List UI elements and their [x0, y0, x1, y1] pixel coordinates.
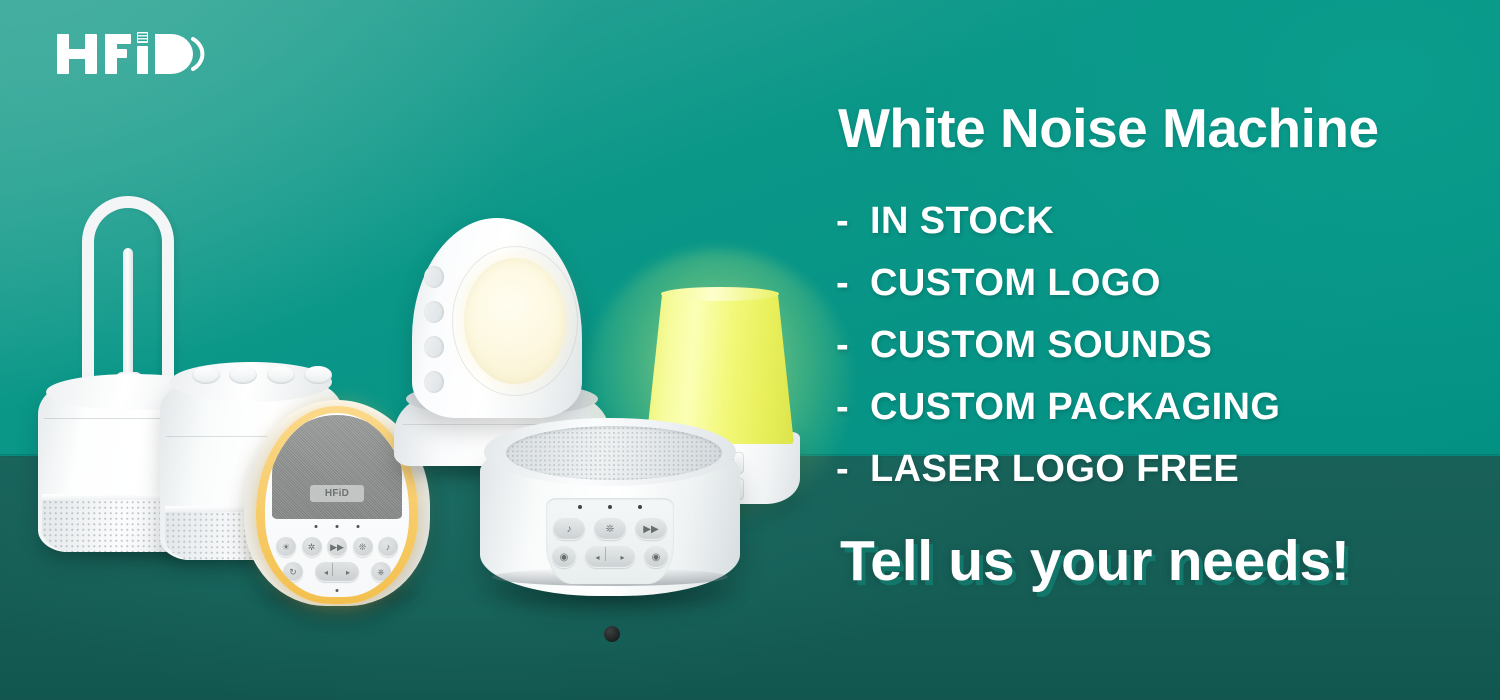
product-drum-sound-machine: ♪ ❊ ▶▶ ◉ ◂ ▸ ◉: [480, 418, 740, 610]
bullet-dash: -: [836, 262, 870, 305]
mode-icon: ◉: [644, 546, 668, 568]
feature-list: - IN STOCK - CUSTOM LOGO - CUSTOM SOUNDS…: [836, 200, 1476, 510]
side-button: [424, 371, 444, 393]
volume-rocker: ◂ ▸: [315, 562, 359, 582]
page-title: White Noise Machine: [838, 96, 1379, 160]
volume-rocker: ◂ ▸: [585, 546, 635, 568]
keypad-row-1: ♪ ❊ ▶▶: [553, 518, 667, 540]
side-button: [424, 301, 444, 323]
bullet-label: CUSTOM LOGO: [870, 262, 1161, 305]
top-button: [267, 366, 295, 384]
promo-banner: HFiD ☀ ✲ ▶▶ ❊ ♪ ↻ ◂ ▸ ⎈: [0, 0, 1500, 700]
fan-icon: ❊: [594, 518, 626, 540]
volume-up-icon: ▸: [620, 553, 624, 562]
side-button: [424, 266, 444, 288]
hfid-badge: HFiD: [310, 485, 364, 502]
led-indicators: [315, 525, 360, 528]
led-dot: [315, 525, 318, 528]
music-note-icon: ♪: [553, 518, 585, 540]
bullet-label: CUSTOM PACKAGING: [870, 386, 1280, 429]
led-dot: [336, 525, 339, 528]
bullet-label: CUSTOM SOUNDS: [870, 324, 1212, 367]
bullet-dash: -: [836, 448, 870, 491]
fast-forward-icon: ▶▶: [327, 537, 347, 557]
led-dot: [638, 505, 642, 509]
ir-sensor: [604, 626, 620, 642]
power-icon: ⎈: [371, 562, 391, 582]
volume-down-icon: ◂: [324, 568, 328, 577]
lamp-shade-top: [661, 287, 779, 301]
egg-face: HFiD ☀ ✲ ▶▶ ❊ ♪ ↻ ◂ ▸ ⎈: [265, 413, 409, 597]
side-button-column: [424, 266, 444, 393]
music-note-icon: ♪: [378, 537, 398, 557]
fast-forward-icon: ▶▶: [635, 518, 667, 540]
list-item: - LASER LOGO FREE: [836, 448, 1476, 510]
volume-up-icon: ▸: [346, 568, 350, 577]
list-item: - IN STOCK: [836, 200, 1476, 262]
dome-body: [412, 218, 582, 418]
bullet-dash: -: [836, 324, 870, 367]
side-button: [424, 336, 444, 358]
led-dot: [357, 525, 360, 528]
timer-icon: ↻: [283, 562, 303, 582]
led-indicators: [578, 505, 642, 509]
bullet-dash: -: [836, 200, 870, 243]
bullet-label: IN STOCK: [870, 200, 1054, 243]
led-dot: [608, 505, 612, 509]
led-dot: [578, 505, 582, 509]
volume-down-icon: ◂: [595, 553, 599, 562]
hfid-wordmark-icon: [55, 26, 235, 82]
bottom-sensor-dot: [336, 589, 339, 592]
top-button-row: [192, 366, 332, 388]
mode-icon: ◉: [552, 546, 576, 568]
list-item: - CUSTOM PACKAGING: [836, 386, 1476, 448]
brightness-icon: ✲: [302, 537, 322, 557]
top-button: [192, 366, 220, 384]
night-light-lens: [464, 258, 566, 384]
top-button: [304, 366, 332, 384]
list-item: - CUSTOM LOGO: [836, 262, 1476, 324]
keypad-row-1: ☀ ✲ ▶▶ ❊ ♪: [276, 537, 398, 557]
top-button: [229, 366, 257, 384]
drum-top-grille: [506, 426, 722, 480]
keypad-row-2: ↻ ◂ ▸ ⎈: [283, 562, 391, 582]
speaker-top-dome: [170, 362, 332, 402]
bullet-dash: -: [836, 386, 870, 429]
fan-icon: ❊: [353, 537, 373, 557]
call-to-action-tagline: Tell us your needs!: [840, 528, 1350, 594]
drum-control-panel: ♪ ❊ ▶▶ ◉ ◂ ▸ ◉: [546, 498, 674, 584]
drum-top-surface: [484, 418, 736, 486]
keypad-row-2: ◉ ◂ ▸ ◉: [552, 546, 668, 568]
bullet-label: LASER LOGO FREE: [870, 448, 1239, 491]
lamp-icon: ☀: [276, 537, 296, 557]
hfid-logo: [55, 26, 235, 82]
list-item: - CUSTOM SOUNDS: [836, 324, 1476, 386]
